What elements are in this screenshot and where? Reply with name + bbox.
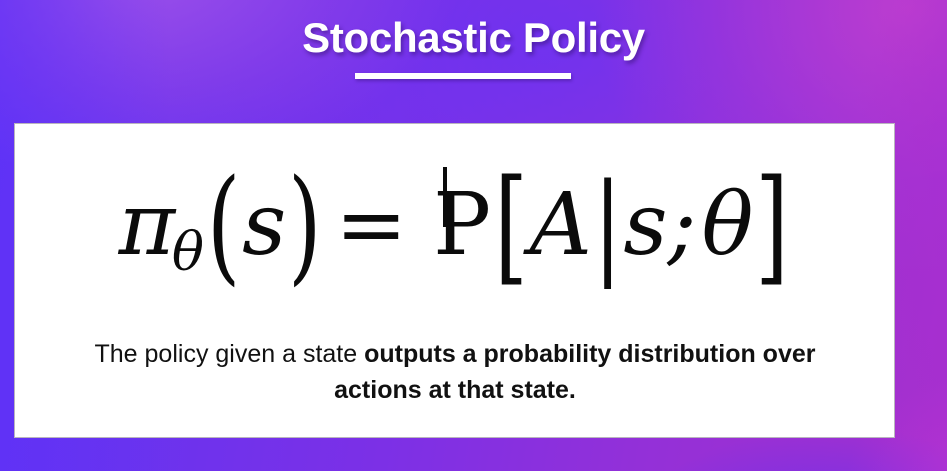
formula-conditional-bar: | xyxy=(593,141,622,310)
formula-policy-subscript: θ xyxy=(172,221,205,283)
caption-bold-part: outputs a probability distribution over … xyxy=(334,340,815,404)
formula-theta-parameter: θ xyxy=(702,175,754,275)
formula-probability-double-stem xyxy=(443,167,447,227)
slide-root: Stochastic Policy πθ(s)=P[A|s;θ] The pol… xyxy=(0,0,947,471)
formula-close-paren: ) xyxy=(288,132,322,320)
formula-policy-symbol: π xyxy=(119,175,176,275)
title-underline-rule xyxy=(355,73,571,79)
formula-probability-letter: P xyxy=(433,175,491,275)
formula-probability-symbol: P xyxy=(433,160,491,290)
formula-open-bracket: [ xyxy=(494,132,528,320)
caption-normal-part: The policy given a state xyxy=(95,340,365,368)
formula-action-variable: A xyxy=(530,175,592,275)
math-formula: πθ(s)=P[A|s;θ] xyxy=(15,160,894,317)
slide-header: Stochastic Policy xyxy=(0,0,947,122)
formula-close-bracket: ] xyxy=(755,132,789,320)
formula-semicolon: ; xyxy=(668,175,697,275)
formula-open-paren: ( xyxy=(207,132,241,320)
formula-caption: The policy given a state outputs a proba… xyxy=(55,336,855,408)
formula-equals-sign: = xyxy=(335,175,407,275)
formula-state-variable: s xyxy=(623,175,667,275)
page-title: Stochastic Policy xyxy=(0,12,947,64)
content-card: πθ(s)=P[A|s;θ] The policy given a state … xyxy=(14,123,895,438)
formula-state-argument: s xyxy=(242,175,286,275)
